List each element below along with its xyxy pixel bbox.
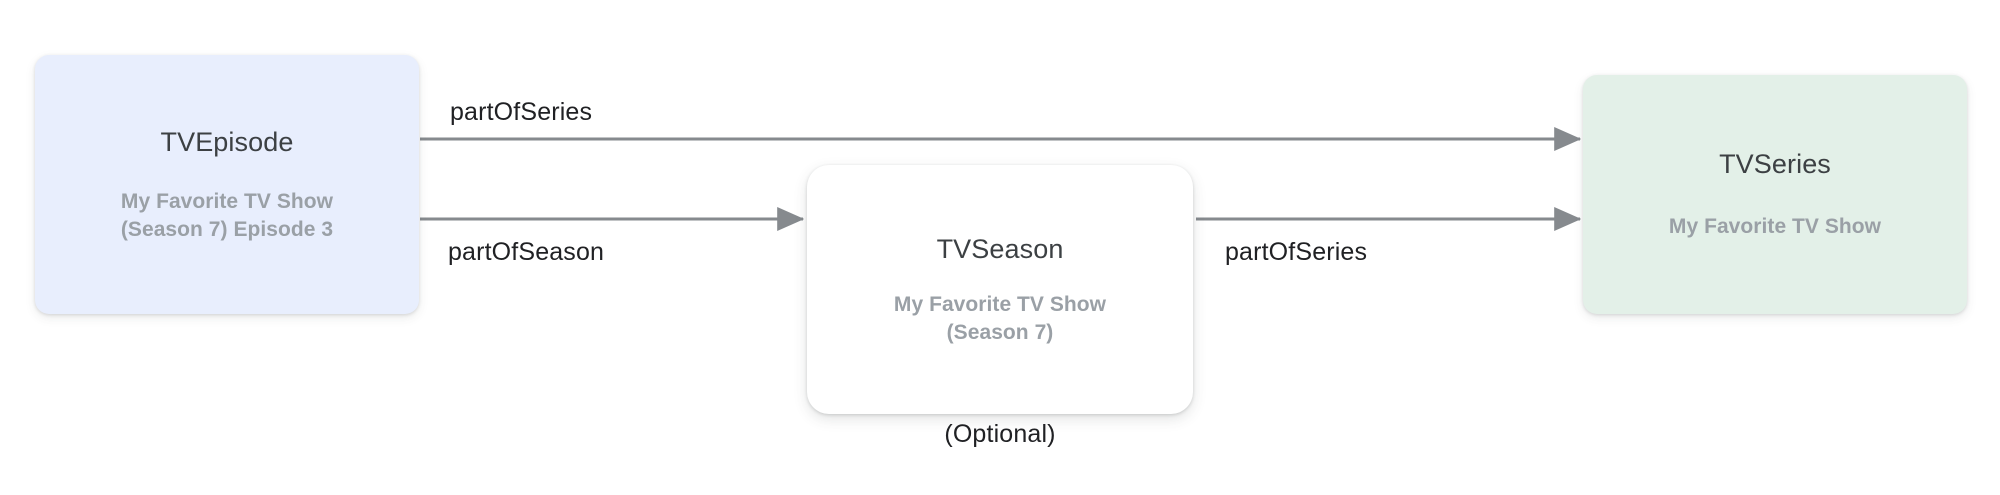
node-tvseason-optional-note: (Optional): [925, 420, 1075, 449]
node-tvseason[interactable]: TVSeason My Favorite TV Show (Season 7): [807, 165, 1193, 414]
node-tvseries-subtitle: My Favorite TV Show: [1669, 213, 1881, 241]
node-tvseries-title: TVSeries: [1719, 148, 1831, 180]
edge-label-part-of-series-top: partOfSeries: [450, 98, 592, 127]
node-tvseason-title: TVSeason: [937, 233, 1064, 265]
node-tvepisode-title: TVEpisode: [161, 126, 294, 158]
node-tvepisode-subtitle: My Favorite TV Show (Season 7) Episode 3: [121, 188, 333, 243]
node-tvseason-subtitle: My Favorite TV Show (Season 7): [894, 291, 1106, 346]
edge-label-part-of-series-right: partOfSeries: [1225, 238, 1367, 267]
edge-label-part-of-season: partOfSeason: [448, 238, 604, 267]
diagram-canvas: TVEpisode My Favorite TV Show (Season 7)…: [0, 0, 2000, 495]
node-tvepisode[interactable]: TVEpisode My Favorite TV Show (Season 7)…: [35, 55, 419, 314]
node-tvseries[interactable]: TVSeries My Favorite TV Show: [1583, 75, 1967, 314]
